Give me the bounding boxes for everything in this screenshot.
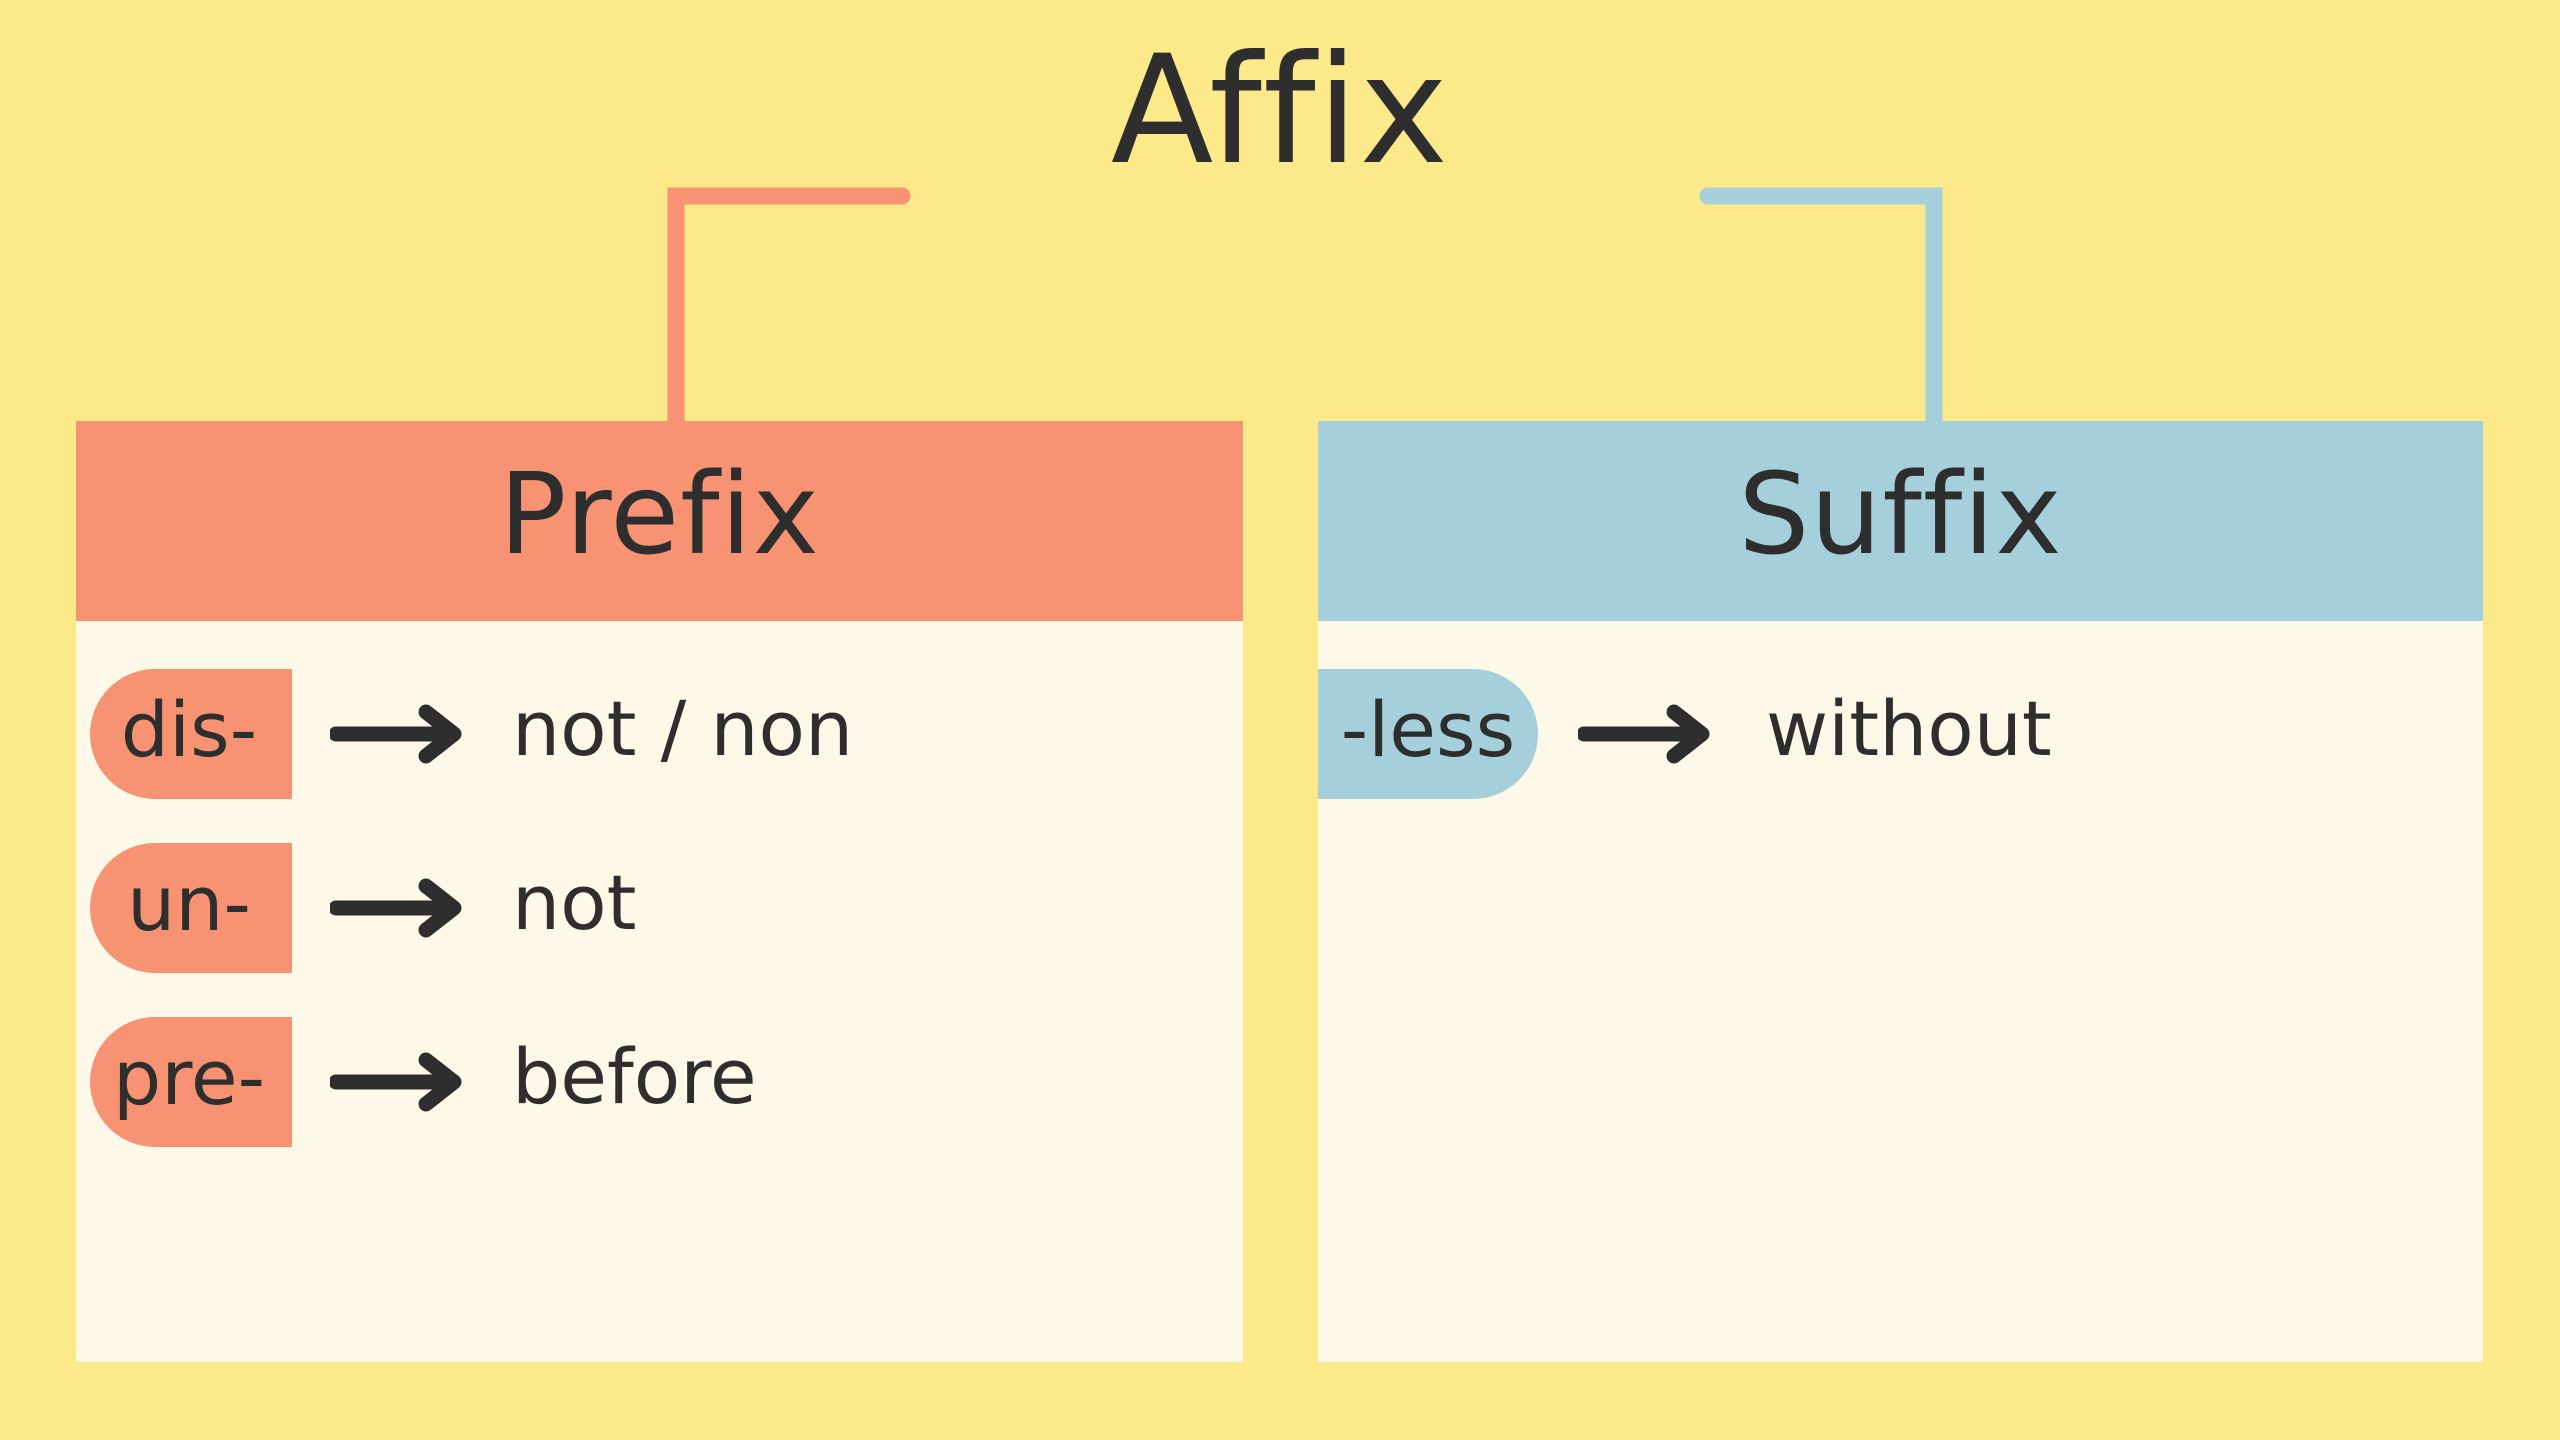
affix-chip-pre[interactable]: pre- <box>90 1017 292 1147</box>
suffix-entry-row: -less without <box>1318 669 2483 799</box>
suffix-entry-list: -less without <box>1318 621 2483 1362</box>
prefix-entry-row: dis- not / non <box>76 669 1243 799</box>
affix-meaning-label: before <box>512 1039 757 1115</box>
prefix-entry-row: pre- before <box>76 1017 1243 1147</box>
suffix-panel-header: Suffix <box>1318 421 2483 621</box>
prefix-panel: Prefix dis- not / non un- <box>76 421 1243 1362</box>
connector-suffix <box>1690 180 1950 430</box>
affix-chip-label: un- <box>127 866 251 942</box>
prefix-entry-list: dis- not / non un- not <box>76 621 1243 1362</box>
affix-chip-less[interactable]: -less <box>1318 669 1538 799</box>
affix-chip-label: dis- <box>121 692 257 768</box>
prefix-panel-title: Prefix <box>499 459 820 571</box>
arrow-right-icon <box>330 704 470 764</box>
affix-meaning-label: not <box>512 865 636 941</box>
suffix-panel-title: Suffix <box>1738 459 2062 571</box>
connector-prefix <box>660 180 920 430</box>
affix-chip-label: pre- <box>113 1040 265 1116</box>
affix-meaning-label: without <box>1766 691 2052 767</box>
page-title: Affix <box>0 36 2560 186</box>
arrow-right-icon <box>330 1052 470 1112</box>
prefix-entry-row: un- not <box>76 843 1243 973</box>
affix-chip-label: -less <box>1341 692 1516 768</box>
affix-chip-un[interactable]: un- <box>90 843 292 973</box>
arrow-right-icon <box>1578 704 1718 764</box>
suffix-panel: Suffix -less without <box>1318 421 2483 1362</box>
affix-chip-dis[interactable]: dis- <box>90 669 292 799</box>
affix-diagram: Affix Prefix dis- not / non <box>0 0 2560 1440</box>
arrow-right-icon <box>330 878 470 938</box>
prefix-panel-header: Prefix <box>76 421 1243 621</box>
affix-meaning-label: not / non <box>512 691 853 767</box>
